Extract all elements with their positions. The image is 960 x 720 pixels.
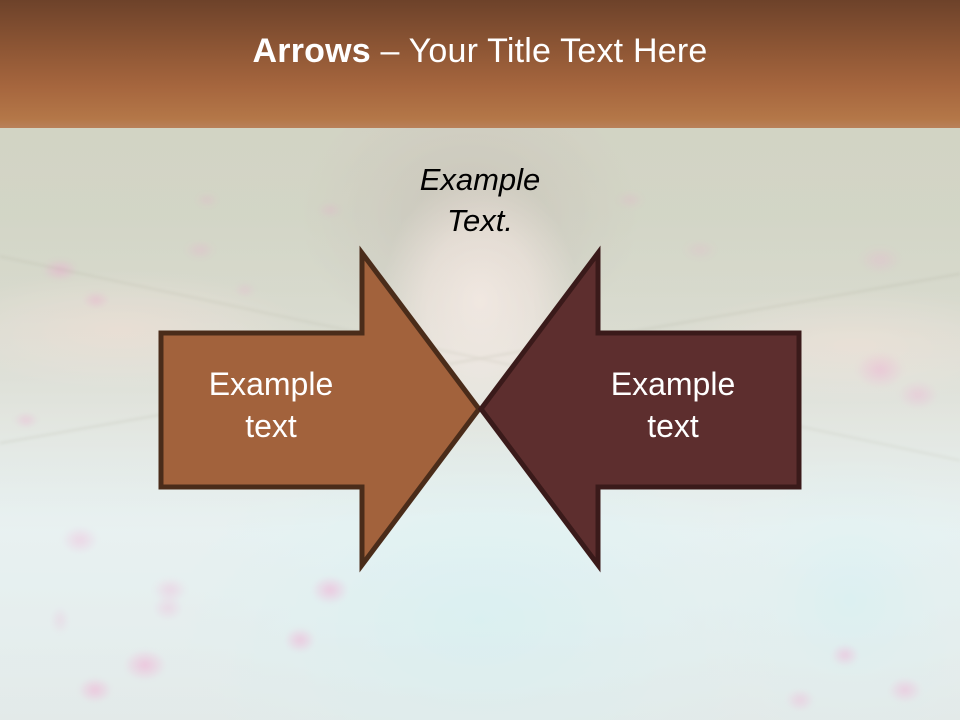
left-arrow-label-line-1: Example bbox=[166, 363, 376, 405]
slide-canvas: Arrows – Your Title Text Here Example Te… bbox=[0, 0, 960, 720]
left-arrow-label-line-2: text bbox=[166, 405, 376, 447]
right-arrow-label-line-1: Example bbox=[568, 363, 778, 405]
arrow-diagram bbox=[0, 0, 960, 720]
left-arrow-label: Example text bbox=[166, 363, 376, 447]
right-arrow-label-line-2: text bbox=[568, 405, 778, 447]
right-arrow-label: Example text bbox=[568, 363, 778, 447]
